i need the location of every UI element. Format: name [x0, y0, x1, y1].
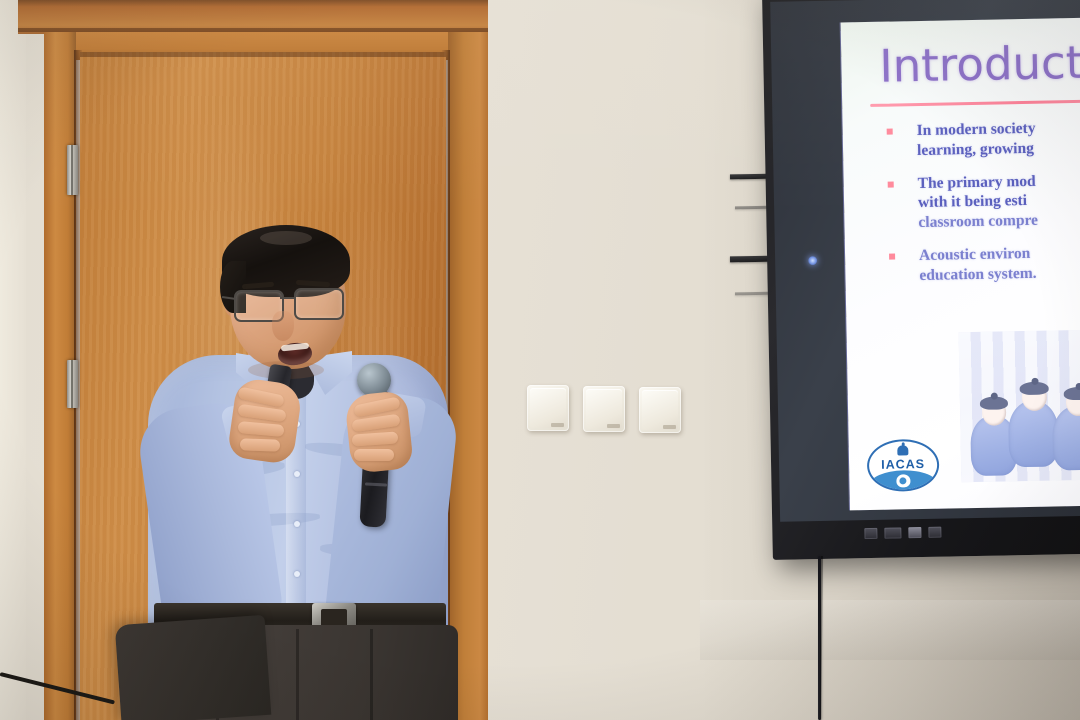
wall-switch-1-brand-mark: [551, 423, 564, 427]
shirt-button: [294, 571, 300, 577]
wall-switch-2[interactable]: [583, 386, 625, 432]
bullet-3-line-2: education system.: [919, 262, 1080, 286]
slide-bullet-list: In modern society learning, growing The …: [871, 117, 1080, 300]
logo-ring: IACAS: [867, 439, 940, 492]
bullet-square-icon: [889, 254, 895, 260]
wall-display[interactable]: Introductio In modern society learning, …: [762, 0, 1080, 560]
slide-title: Introductio: [879, 39, 1080, 89]
bullet-1-line-2: learning, growing: [917, 137, 1080, 161]
shirt-button: [294, 471, 300, 477]
door-hinge-lower: [67, 360, 78, 408]
presenter-nose: [272, 311, 294, 341]
door-panel-top-edge: [80, 52, 446, 57]
wall-switch-2-brand-mark: [607, 424, 620, 428]
slide-title-rule: [870, 99, 1080, 107]
slide-bullet-3: Acoustic environ education system.: [873, 242, 1080, 286]
display-source-button[interactable]: [908, 527, 921, 538]
slide-bullet-1: In modern society learning, growing: [871, 117, 1080, 161]
wall-switch-3-rocker[interactable]: [642, 390, 678, 430]
display-volume-button[interactable]: [928, 526, 941, 537]
wall-light-band: [700, 600, 1080, 660]
door-hinge-upper: [67, 145, 78, 195]
presenter-hair-highlight: [260, 231, 312, 245]
power-led-icon: [808, 256, 817, 265]
wall-switch-1-rocker[interactable]: [530, 388, 566, 428]
iacas-logo: IACAS: [867, 439, 940, 492]
finger: [240, 438, 280, 451]
wall-switch-2-rocker[interactable]: [586, 389, 622, 429]
display-screen: Introductio In modern society learning, …: [770, 0, 1080, 522]
bell-icon: [897, 445, 908, 455]
presentation-slide: Introductio In modern society learning, …: [841, 18, 1080, 511]
shirt-button: [294, 521, 300, 527]
bullet-square-icon: [887, 129, 893, 135]
wall-switch-1[interactable]: [527, 385, 569, 431]
glasses-lens-right: [294, 288, 344, 320]
finger: [354, 449, 394, 461]
display-control-buttons[interactable]: [864, 522, 1014, 541]
display-menu-button[interactable]: [884, 527, 901, 538]
fish-icon: [896, 474, 910, 487]
trouser-pleat: [296, 629, 299, 720]
photo-scene: Introductio In modern society learning, …: [0, 0, 1080, 720]
slide-illustration: [959, 329, 1080, 482]
foreground-furniture: [115, 615, 272, 720]
trouser-pleat: [370, 629, 373, 720]
bullet-2-line-3: classroom compre: [918, 209, 1080, 233]
bullet-square-icon: [888, 181, 894, 187]
wall-switch-3[interactable]: [639, 387, 681, 433]
glasses-bridge: [280, 297, 296, 299]
wall-switch-3-brand-mark: [663, 425, 676, 429]
slide-bullet-2: The primary mod with it being esti class…: [872, 170, 1080, 234]
display-power-button[interactable]: [864, 527, 877, 538]
